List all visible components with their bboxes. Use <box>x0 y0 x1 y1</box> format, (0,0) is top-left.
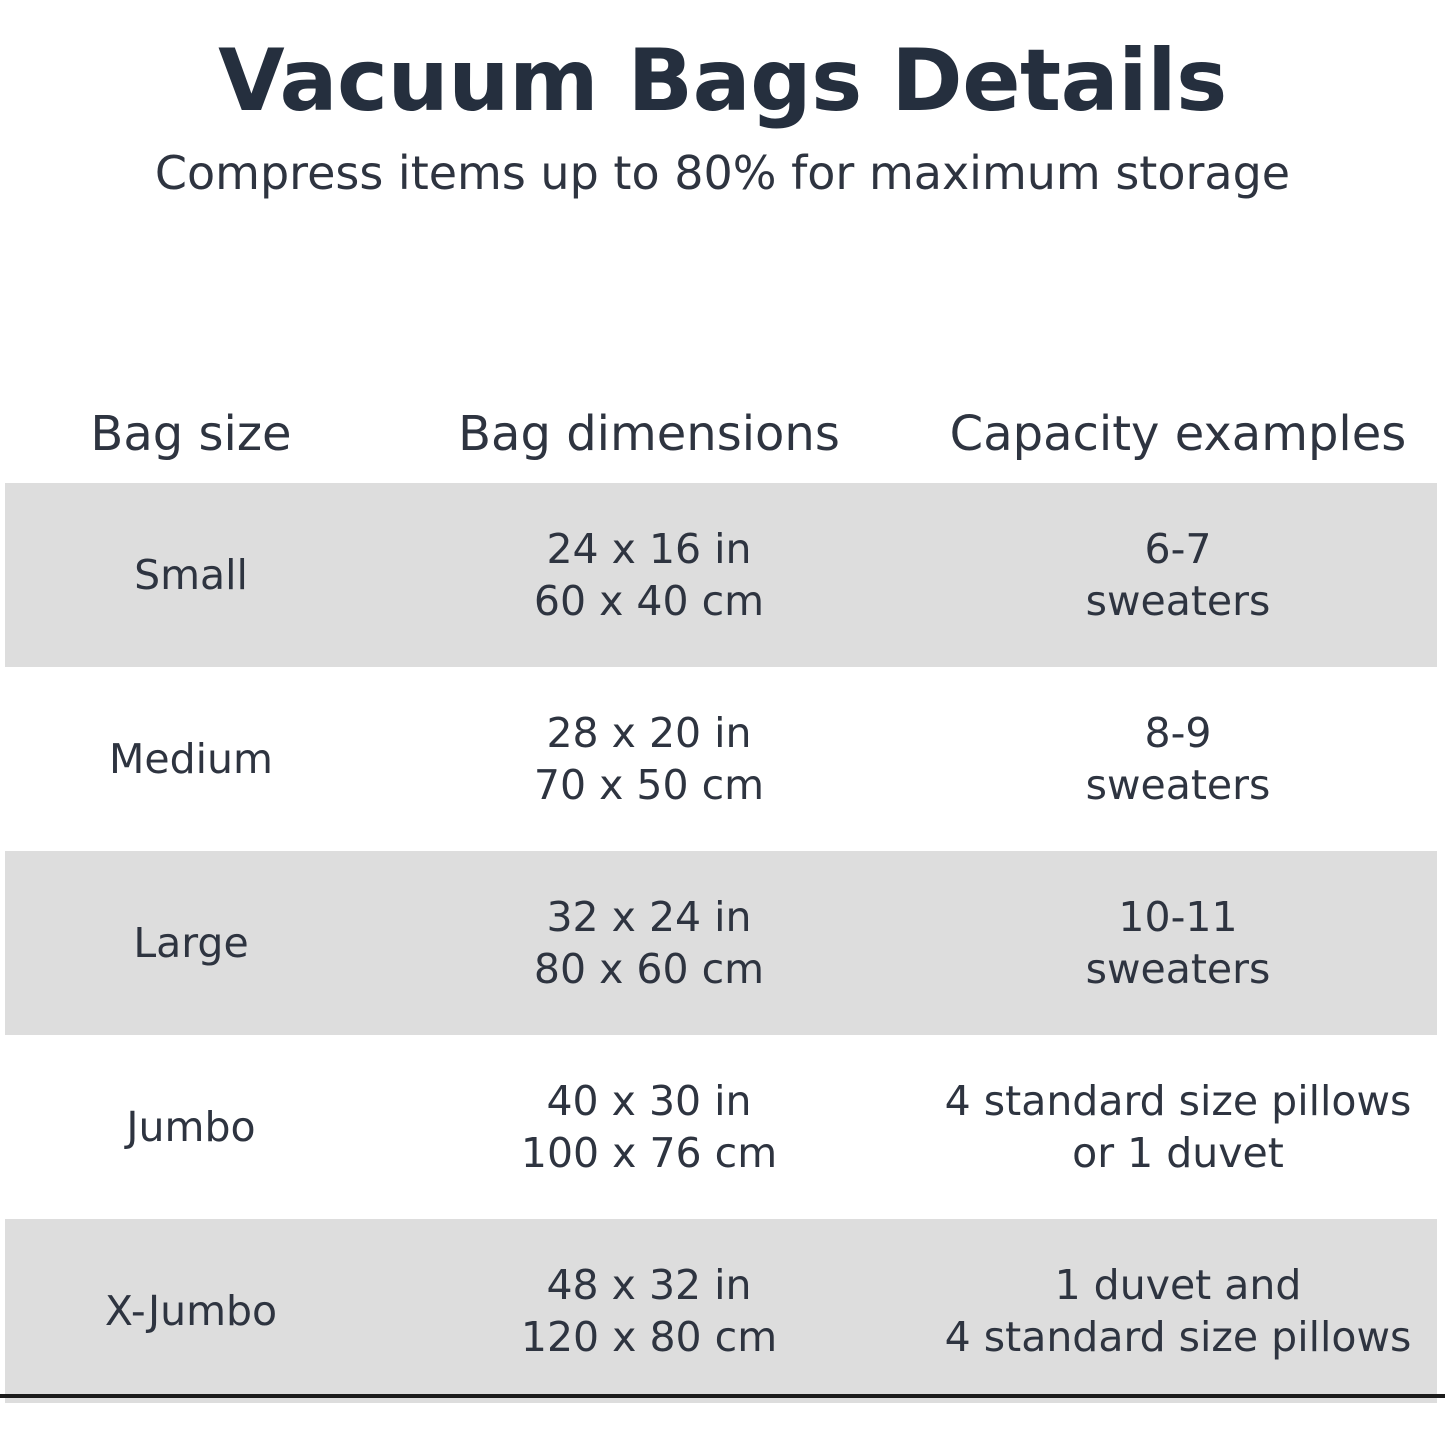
page-header: Vacuum Bags Details Compress items up to… <box>0 0 1445 198</box>
capacity-line-2: or 1 duvet <box>1072 1127 1284 1179</box>
cell-capacity-examples: 8-9 sweaters <box>928 667 1428 851</box>
table-bottom-rule <box>0 1394 1445 1398</box>
cell-bag-size: Large <box>46 851 336 1035</box>
table-row: X-Jumbo 48 x 32 in 120 x 80 cm 1 duvet a… <box>0 1219 1445 1403</box>
cell-bag-size: Medium <box>46 667 336 851</box>
table-row: Medium 28 x 20 in 70 x 50 cm 8-9 sweater… <box>0 667 1445 851</box>
capacity-line-2: sweaters <box>1086 759 1271 811</box>
table-row: Large 32 x 24 in 80 x 60 cm 10-11 sweate… <box>0 851 1445 1035</box>
bag-size-value: Small <box>134 549 248 601</box>
bag-size-value: Large <box>133 917 248 969</box>
capacity-line-2: sweaters <box>1086 575 1271 627</box>
dimensions-inches: 48 x 32 in <box>546 1259 751 1311</box>
cell-bag-dimensions: 40 x 30 in 100 x 76 cm <box>409 1035 889 1219</box>
table-row: Small 24 x 16 in 60 x 40 cm 6-7 sweaters <box>0 483 1445 667</box>
cell-capacity-examples: 1 duvet and 4 standard size pillows <box>928 1219 1428 1403</box>
dimensions-inches: 32 x 24 in <box>546 891 751 943</box>
bag-size-value: Jumbo <box>126 1101 255 1153</box>
dimensions-inches: 28 x 20 in <box>546 707 751 759</box>
cell-capacity-examples: 10-11 sweaters <box>928 851 1428 1035</box>
cell-capacity-examples: 6-7 sweaters <box>928 483 1428 667</box>
capacity-line-1: 4 standard size pillows <box>945 1075 1412 1127</box>
column-header-bag-size: Bag size <box>46 385 336 483</box>
dimensions-centimeters: 120 x 80 cm <box>521 1311 777 1363</box>
capacity-line-2: sweaters <box>1086 943 1271 995</box>
dimensions-centimeters: 80 x 60 cm <box>534 943 764 995</box>
capacity-line-2: 4 standard size pillows <box>945 1311 1412 1363</box>
page-subtitle: Compress items up to 80% for maximum sto… <box>0 126 1445 199</box>
dimensions-centimeters: 60 x 40 cm <box>534 575 764 627</box>
dimensions-inches: 24 x 16 in <box>546 523 751 575</box>
column-header-capacity-examples: Capacity examples <box>928 385 1428 483</box>
capacity-line-1: 6-7 <box>1145 523 1212 575</box>
cell-bag-size: Jumbo <box>46 1035 336 1219</box>
capacity-line-1: 1 duvet and <box>1055 1259 1302 1311</box>
page-title: Vacuum Bags Details <box>0 38 1445 126</box>
capacity-line-1: 10-11 <box>1118 891 1237 943</box>
bag-size-value: Medium <box>109 733 273 785</box>
cell-bag-dimensions: 48 x 32 in 120 x 80 cm <box>409 1219 889 1403</box>
column-header-bag-dimensions: Bag dimensions <box>409 385 889 483</box>
table-header-row: Bag size Bag dimensions Capacity example… <box>0 385 1445 483</box>
capacity-line-1: 8-9 <box>1145 707 1212 759</box>
cell-bag-size: Small <box>46 483 336 667</box>
cell-bag-dimensions: 28 x 20 in 70 x 50 cm <box>409 667 889 851</box>
dimensions-centimeters: 70 x 50 cm <box>534 759 764 811</box>
dimensions-inches: 40 x 30 in <box>546 1075 751 1127</box>
bag-specifications-table: Bag size Bag dimensions Capacity example… <box>0 385 1445 1403</box>
table-row: Jumbo 40 x 30 in 100 x 76 cm 4 standard … <box>0 1035 1445 1219</box>
cell-capacity-examples: 4 standard size pillows or 1 duvet <box>928 1035 1428 1219</box>
infographic-page: Vacuum Bags Details Compress items up to… <box>0 0 1445 1445</box>
cell-bag-size: X-Jumbo <box>46 1219 336 1403</box>
cell-bag-dimensions: 24 x 16 in 60 x 40 cm <box>409 483 889 667</box>
bag-size-value: X-Jumbo <box>105 1285 277 1337</box>
cell-bag-dimensions: 32 x 24 in 80 x 60 cm <box>409 851 889 1035</box>
dimensions-centimeters: 100 x 76 cm <box>521 1127 777 1179</box>
